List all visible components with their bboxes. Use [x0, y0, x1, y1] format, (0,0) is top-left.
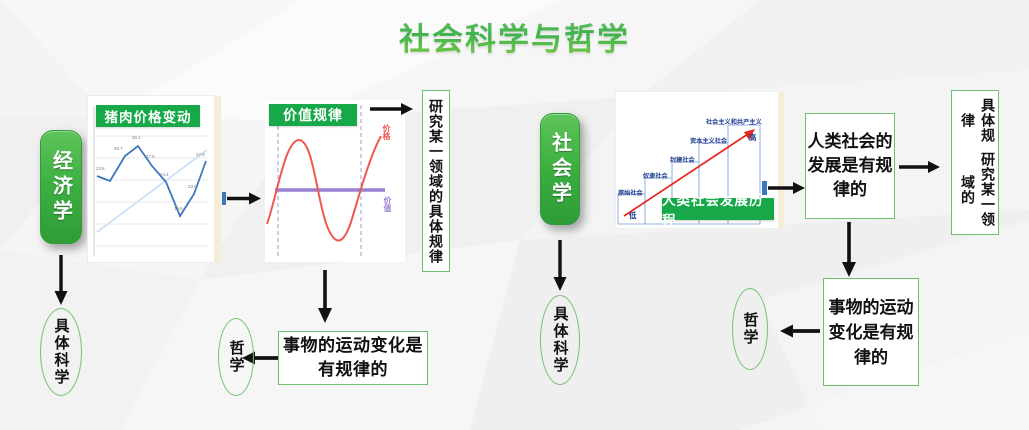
- subject-pill-sociology[interactable]: 社会学: [540, 113, 580, 225]
- ellipse-concrete-science-left[interactable]: 具体科学: [40, 308, 82, 396]
- picture-right-edge-strip-2: [778, 92, 784, 228]
- stair-label-2: 封建社会: [670, 155, 695, 164]
- stair-label-0: 原始社会: [618, 188, 643, 197]
- arrow-society-law-to-conclusion-right: [838, 222, 860, 278]
- box-field-specific-law-right-col2: 具体规律: [958, 95, 998, 146]
- arrow-value-law-to-field-law: [370, 100, 414, 118]
- box-society-law[interactable]: 人类社会的发展是有规律的: [805, 113, 895, 219]
- box-conclusion-left[interactable]: 事物的运动变化是有规律的: [278, 331, 428, 385]
- arrow-sociology-to-concrete-science: [549, 240, 571, 292]
- stair-label-3: 资本主义社会: [690, 136, 727, 145]
- box-field-specific-law-left[interactable]: 研究某一领域的具体规律: [422, 90, 450, 272]
- arrow-pork-chart-to-value-law: [222, 188, 262, 208]
- value-law-price-label: 价格: [381, 124, 392, 140]
- arrow-society-law-to-field-law: [899, 158, 941, 176]
- stair-high-label: 高: [749, 132, 757, 143]
- picture-right-edge-strip-1: [214, 96, 221, 262]
- picture-tag-society-development: 人类社会发展历程: [662, 198, 774, 220]
- picture-tag-value-law: 价值规律: [269, 104, 357, 126]
- stair-label-1: 奴隶社会: [643, 171, 668, 180]
- ellipse-philosophy-right[interactable]: 哲学: [732, 288, 768, 370]
- box-field-specific-law-right[interactable]: 具体规律 研究某一领域的: [951, 90, 999, 235]
- arrow-economics-to-concrete-science: [50, 255, 72, 307]
- ellipse-philosophy-left[interactable]: 哲学: [218, 318, 254, 396]
- arrow-society-chart-to-society-law: [762, 178, 806, 198]
- picture-tag-pork-price: 猪肉价格变动: [96, 105, 200, 127]
- value-law-value-label: 价值: [382, 196, 393, 212]
- ellipse-concrete-science-right[interactable]: 具体科学: [540, 295, 580, 385]
- stair-label-4: 社会主义和共产主义: [706, 117, 762, 126]
- box-conclusion-right[interactable]: 事物的运动变化是有规律的: [823, 278, 919, 386]
- arrow-conclusion-to-philosophy-right: [780, 322, 820, 340]
- subject-pill-economics[interactable]: 经济学: [40, 130, 82, 244]
- arrow-value-law-to-conclusion-left: [314, 270, 336, 324]
- box-field-specific-law-right-col1: 研究某一领域的: [958, 146, 998, 234]
- page-title: 社会科学与哲学: [0, 14, 1029, 59]
- stair-low-label: 低: [629, 210, 637, 221]
